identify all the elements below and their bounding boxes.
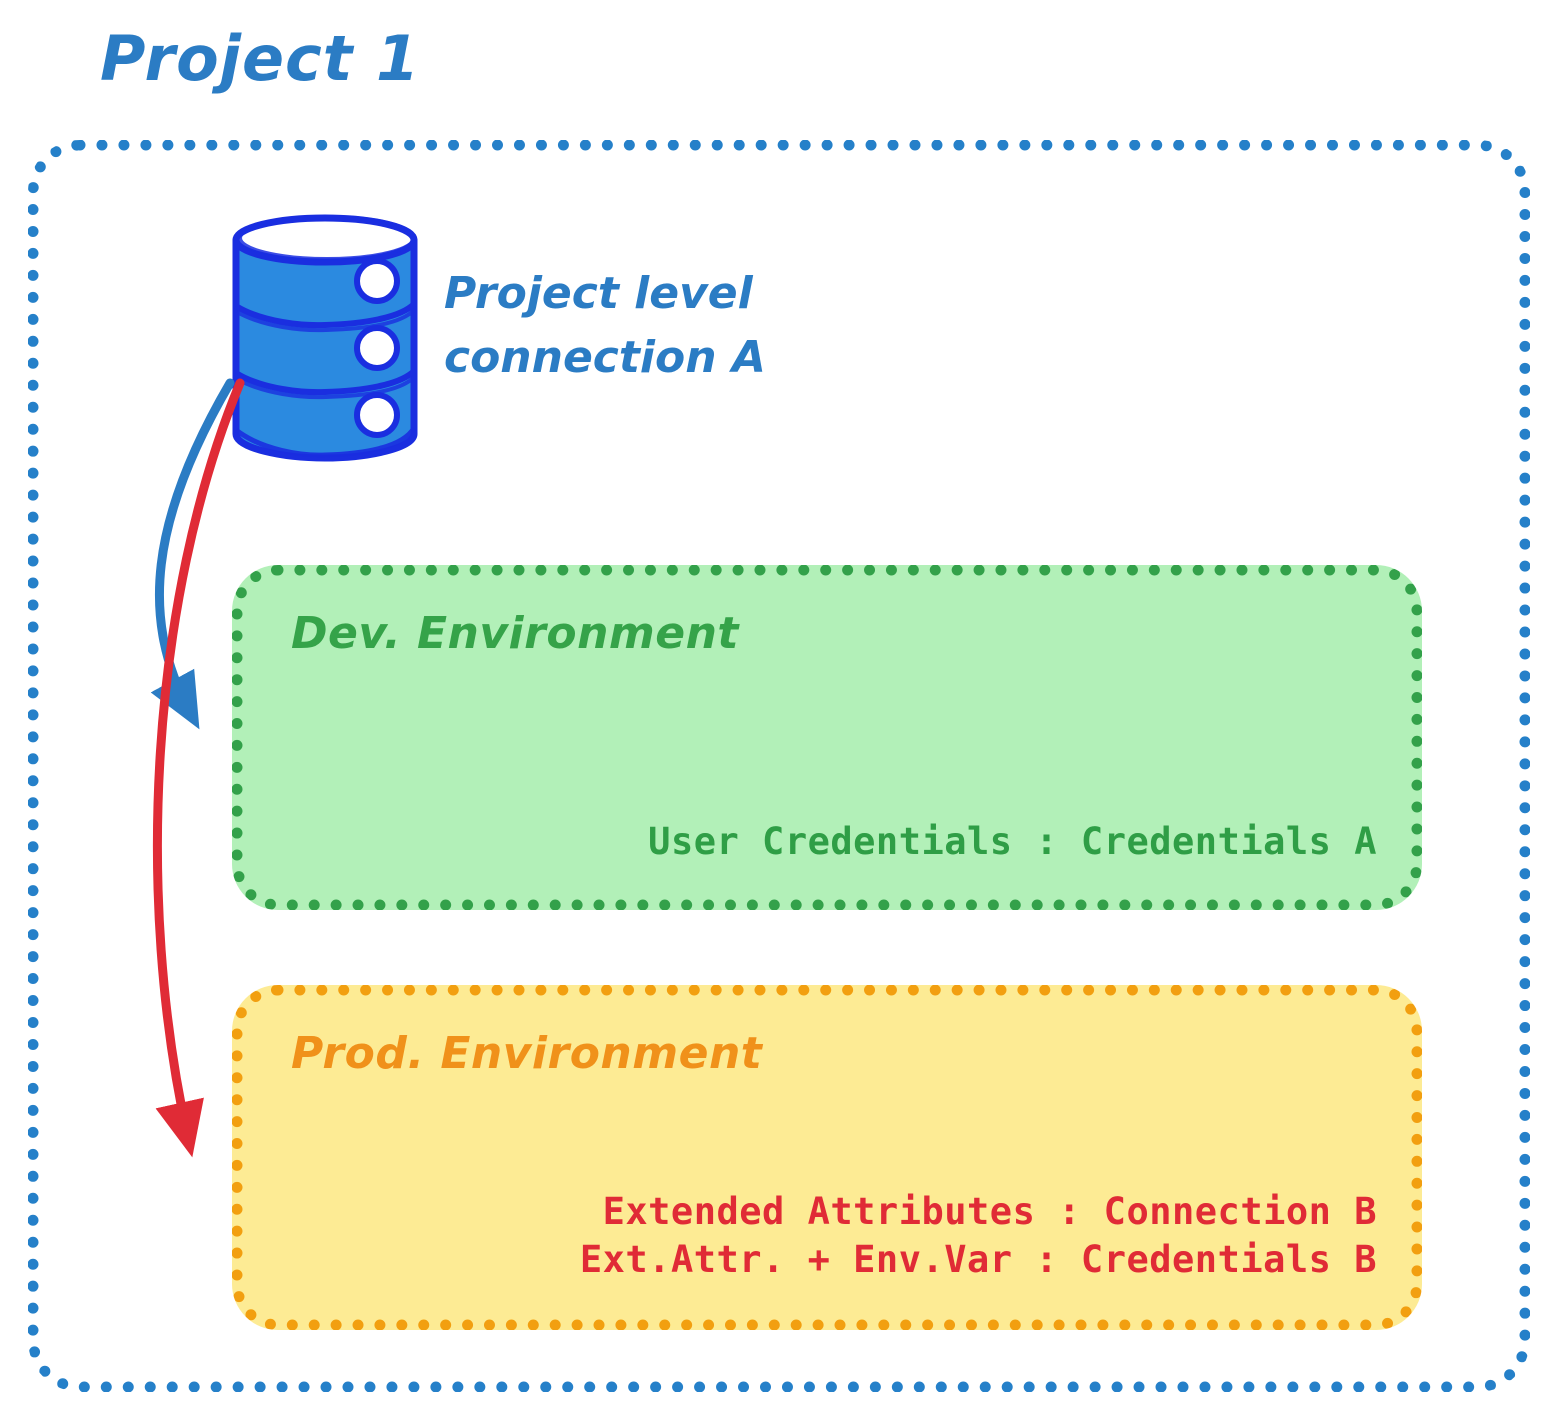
database-label: Project levelconnection A (444, 262, 766, 390)
diagram-canvas: Project 1 Project levelconnection A (0, 0, 1553, 1415)
database-label-line1: Project level (444, 268, 753, 319)
dev-environment-box[interactable]: Dev. Environment User Credentials : Cred… (232, 565, 1422, 910)
prod-environment-title: Prod. Environment (291, 1028, 762, 1079)
dev-environment-title: Dev. Environment (291, 608, 739, 659)
database-label-line2: connection A (444, 332, 766, 383)
dev-environment-credentials-text: User Credentials : Credentials A (648, 818, 1377, 865)
prod-environment-credentials-text: Extended Attributes : Connection B Ext.A… (580, 1188, 1377, 1283)
prod-environment-box[interactable]: Prod. Environment Extended Attributes : … (232, 985, 1422, 1330)
page-title: Project 1 (100, 22, 420, 95)
database-cylinder-icon (222, 208, 437, 463)
